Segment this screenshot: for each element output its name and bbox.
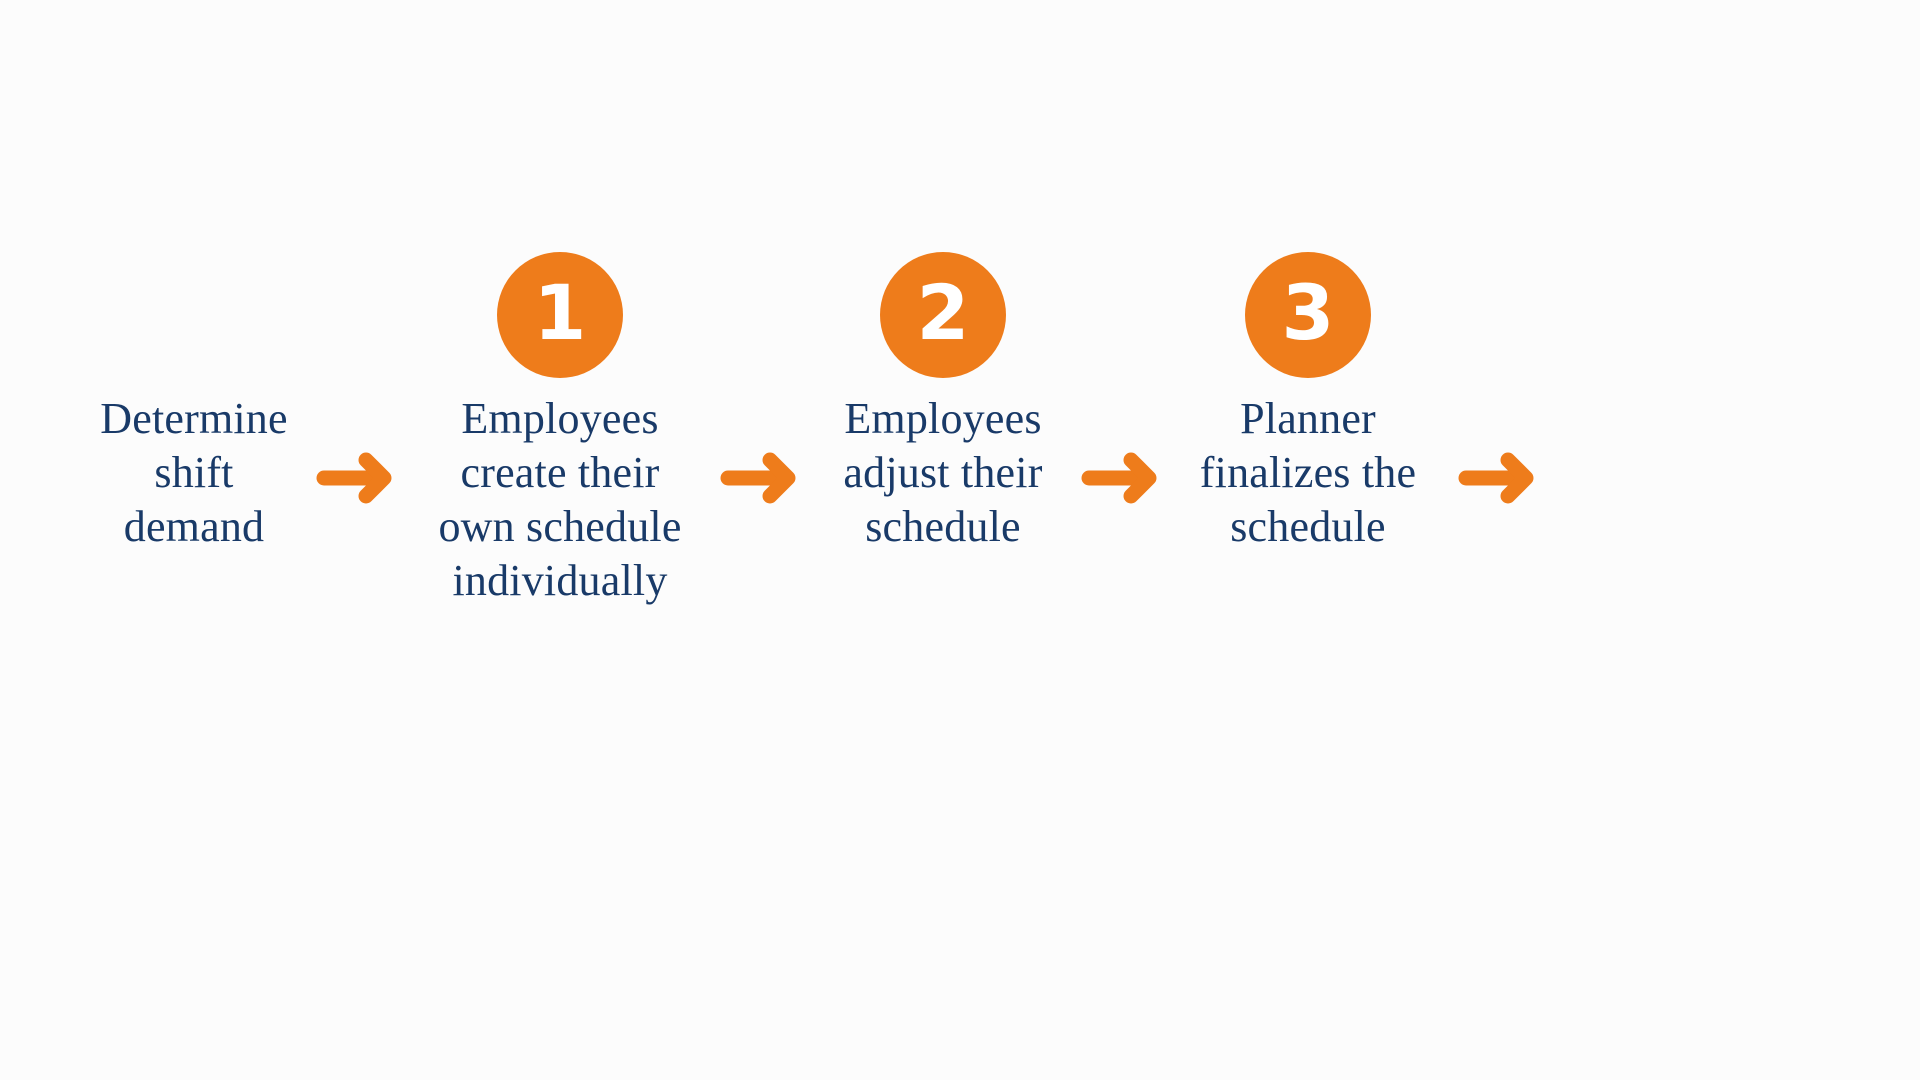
arrow-right-icon-4	[1458, 452, 1536, 504]
process-flow-diagram: Determine shift demand 1 Employees creat…	[0, 0, 1920, 1080]
step-badge-2: 2	[880, 252, 1006, 378]
step-badge-number-2: 2	[917, 275, 970, 351]
step-label-planner-finalizes-schedule: Planner finalizes the schedule	[1155, 392, 1461, 554]
step-badge-3: 3	[1245, 252, 1371, 378]
arrow-right-icon-3	[1081, 452, 1159, 504]
arrow-right-icon-2	[720, 452, 798, 504]
step-label-employees-create-schedule: Employees create their own schedule indi…	[392, 392, 728, 608]
step-label-determine-shift-demand: Determine shift demand	[35, 392, 353, 554]
step-badge-number-1: 1	[534, 275, 587, 351]
step-label-employees-adjust-schedule: Employees adjust their schedule	[790, 392, 1096, 554]
badge-slot-empty	[35, 252, 353, 378]
step-badge-1: 1	[497, 252, 623, 378]
step-badge-number-3: 3	[1282, 275, 1335, 351]
arrow-right-icon-1	[316, 452, 394, 504]
